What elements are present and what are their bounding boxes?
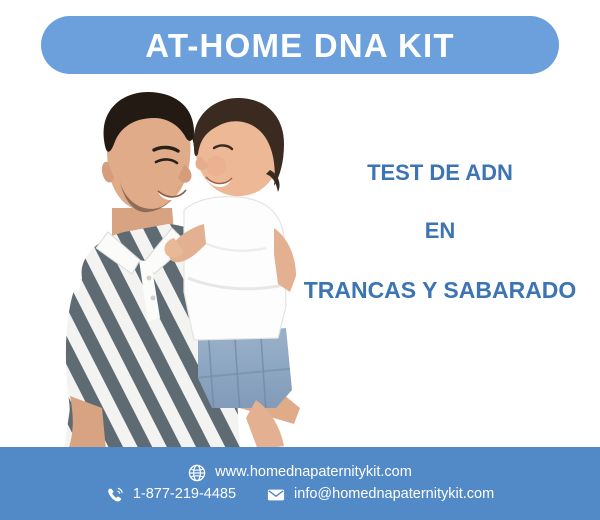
globe-icon (188, 464, 206, 482)
dna-kit-promo-card: AT-HOME DNA KIT (0, 0, 600, 520)
family-photo (8, 78, 320, 460)
email-item[interactable]: info@homednapaternitykit.com (267, 486, 494, 504)
phone-icon (106, 486, 124, 504)
headline-line-2: EN (290, 218, 590, 244)
headline-line-1: TEST DE ADN (290, 160, 590, 186)
footer-row-website: www.homednapaternitykit.com (188, 464, 412, 482)
page-title: AT-HOME DNA KIT (145, 29, 454, 62)
email-label: info@homednapaternitykit.com (294, 487, 494, 502)
footer-contact-info: www.homednapaternitykit.com 1-877-219-44… (0, 447, 600, 520)
footer-row-phone-email: 1-877-219-4485 info@homednapaternitykit.… (106, 486, 494, 504)
headline-line-3: TRANCAS Y SABARADO (290, 277, 590, 305)
phone-label: 1-877-219-4485 (133, 487, 236, 502)
header-banner: AT-HOME DNA KIT (41, 16, 559, 74)
phone-item[interactable]: 1-877-219-4485 (106, 486, 236, 504)
envelope-icon (267, 486, 285, 504)
website-label: www.homednapaternitykit.com (215, 465, 412, 480)
headline-block: TEST DE ADN EN TRANCAS Y SABARADO (290, 160, 590, 304)
website-item[interactable]: www.homednapaternitykit.com (188, 464, 412, 482)
